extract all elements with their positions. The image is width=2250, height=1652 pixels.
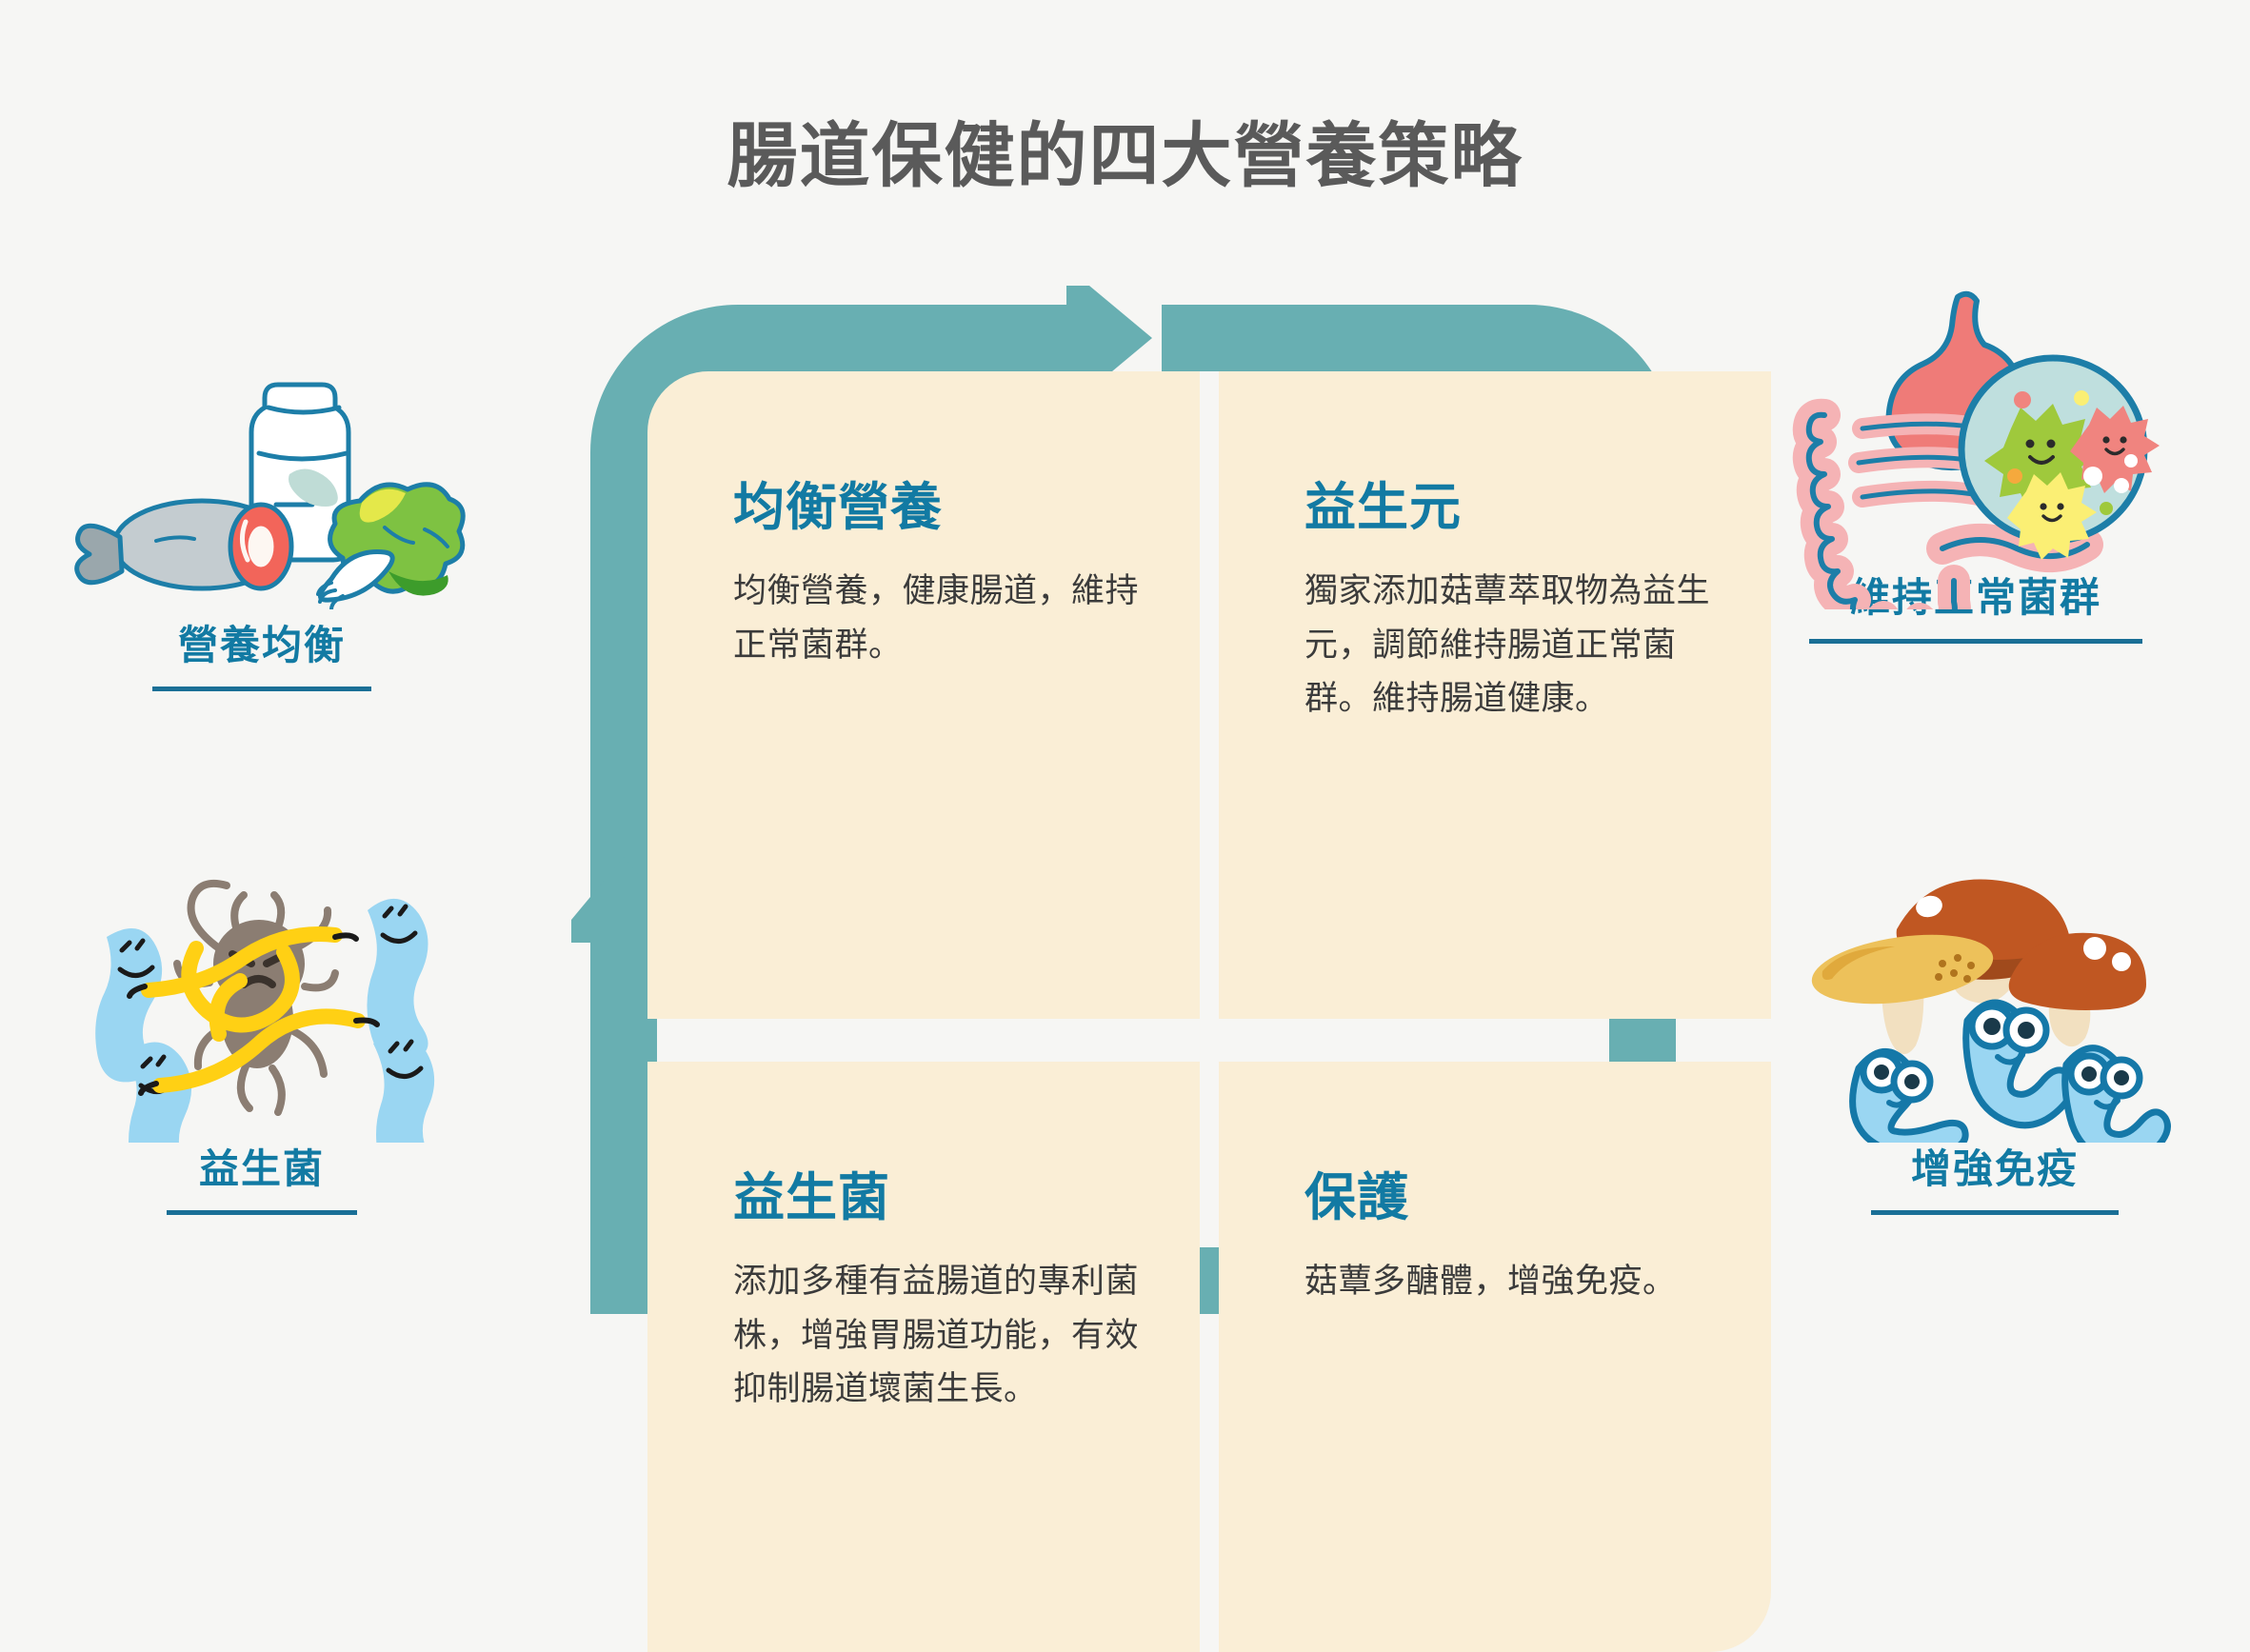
caption-underline — [1809, 639, 2142, 644]
mushrooms-probiotics-icon — [1790, 857, 2200, 1133]
side-item-caption: 增強免疫 — [1790, 1137, 2200, 1195]
quadrant-heading: 均衡營養 — [733, 465, 1148, 540]
quadrant-panel-bottom-left[interactable]: 益生菌 添加多種有益腸道的專利菌株，增強胃腸道功能，有效抑制腸道壞菌生長。 — [647, 1062, 1200, 1652]
side-item-normal-flora[interactable]: 維持正常菌群 — [1771, 286, 2180, 644]
cycle-diagram: 均衡營養 均衡營養，健康腸道，維持正常菌群。 益生元 獨家添加菇蕈萃取物為益生元… — [571, 286, 1695, 1333]
quadrant-heading: 保護 — [1304, 1155, 1720, 1230]
page-title: 腸道保健的四大營養策略 — [0, 99, 2250, 201]
caption-underline — [1871, 1210, 2119, 1215]
quadrant-heading: 益生元 — [1304, 465, 1720, 540]
side-item-caption: 營養均衡 — [57, 613, 467, 671]
intestine-microbiome-icon — [1771, 286, 2180, 562]
caption-underline — [167, 1210, 357, 1215]
quadrant-body: 獨家添加菇蕈萃取物為益生元，調節維持腸道正常菌群。維持腸道健康。 — [1304, 565, 1720, 726]
side-item-immunity[interactable]: 增強免疫 — [1790, 857, 2200, 1215]
side-item-caption: 益生菌 — [57, 1137, 467, 1195]
quadrant-panel-top-left[interactable]: 均衡營養 均衡營養，健康腸道，維持正常菌群。 — [647, 371, 1200, 1019]
quadrant-panel-top-right[interactable]: 益生元 獨家添加菇蕈萃取物為益生元，調節維持腸道正常菌群。維持腸道健康。 — [1219, 371, 1771, 1019]
quadrant-body: 添加多種有益腸道的專利菌株，增強胃腸道功能，有效抑制腸道壞菌生長。 — [733, 1255, 1148, 1417]
quadrant-heading: 益生菌 — [733, 1155, 1148, 1230]
caption-underline — [152, 687, 371, 691]
fish-milk-vegetables-icon — [57, 333, 467, 609]
quadrant-panel-bottom-right[interactable]: 保護 菇蕈多醣體，增強免疫。 — [1219, 1062, 1771, 1652]
quadrant-body: 菇蕈多醣體，增強免疫。 — [1304, 1255, 1720, 1309]
probiotics-binding-badbug-icon — [57, 857, 467, 1133]
side-item-probiotics[interactable]: 益生菌 — [57, 857, 467, 1215]
quadrant-body: 均衡營養，健康腸道，維持正常菌群。 — [733, 565, 1148, 672]
side-item-nutrition-balance[interactable]: 營養均衡 — [57, 333, 467, 691]
